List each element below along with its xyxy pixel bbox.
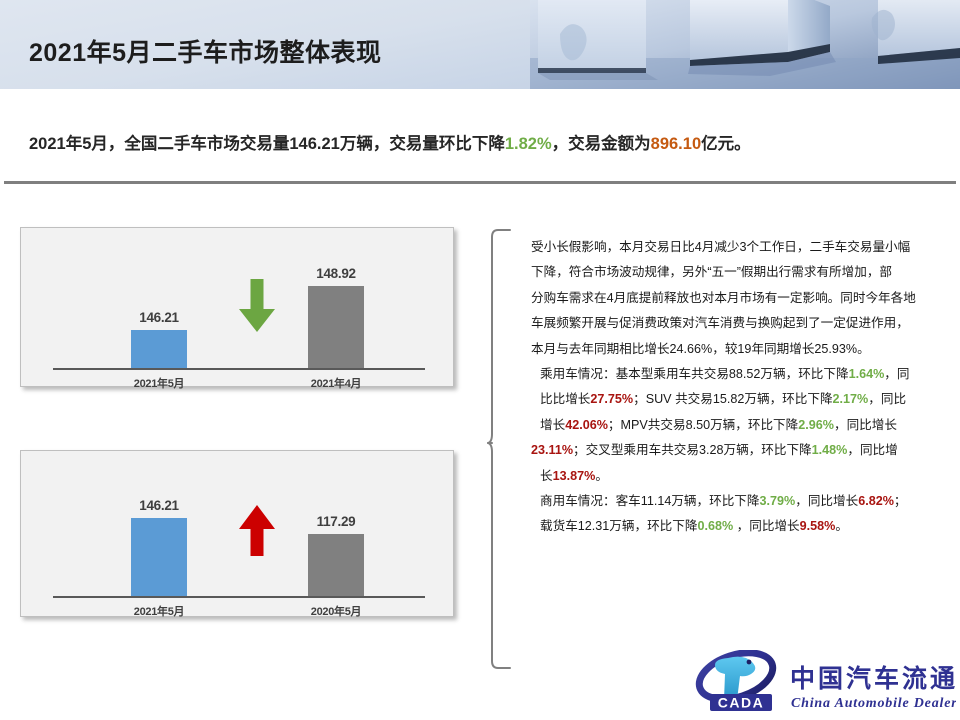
commentary-text: ，同 <box>884 367 909 381</box>
truck-mom-value: 0.68% <box>697 519 733 533</box>
commentary-line-passenger-4: 23.11%；交叉型乘用车共交易3.28万辆，环比下降1.48%，同比增 <box>531 438 951 463</box>
commentary-line-passenger-2: 比比增长27.75%；SUV 共交易15.82万辆，环比下降2.17%，同比 <box>531 387 951 412</box>
crossover-yoy-value: 13.87% <box>553 469 596 483</box>
chart-mom-axis <box>53 368 425 370</box>
chart-mom-category-previous: 2021年4月 <box>286 375 386 391</box>
commentary-line: 分购车需求在4月底提前释放也对本月市场有一定影响。同时今年各地 <box>531 286 951 311</box>
summary-part-1: 2021年5月，全国二手车市场交易量146.21万辆，交易量环比下降 <box>29 135 505 153</box>
suv-mom-value: 2.17% <box>833 392 869 406</box>
commentary-text: 载货车12.31万辆，环比下降 <box>540 519 697 533</box>
chart-mom-value-current: 146.21 <box>109 310 209 325</box>
commentary-text: ；SUV 共交易15.82万辆，环比下降 <box>633 392 832 406</box>
crossover-mom-value: 1.48% <box>812 443 848 457</box>
chart-mom-category-current: 2021年5月 <box>109 375 209 391</box>
commentary-text: ，同比增 <box>847 443 897 457</box>
commentary-panel: 受小长假影响，本月交易日比4月减少3个工作日，二手车交易量小幅 下降，符合市场波… <box>531 235 951 655</box>
bus-mom-value: 3.79% <box>760 494 796 508</box>
cada-chinese-name: 中国汽车流通协会 <box>790 664 956 693</box>
commentary-text: 比比增长 <box>540 392 590 406</box>
chart-yoy-bar-previous <box>308 534 364 596</box>
commentary-text: 受小长假影响，本月交易日比4月减少3个工作日，二手车交易量小幅 <box>531 240 910 254</box>
transaction-amount-value: 896.10 <box>651 135 701 153</box>
header-background-photo <box>530 0 960 89</box>
bus-yoy-value: 6.82% <box>858 494 894 508</box>
chart-yoy-category-previous: 2020年5月 <box>286 603 386 619</box>
summary-line: 2021年5月，全国二手车市场交易量146.21万辆，交易量环比下降1.82%，… <box>29 130 929 154</box>
chart-yoy-bar-current <box>131 518 187 596</box>
up-arrow-icon <box>237 504 277 563</box>
commentary-text: 分购车需求在4月底提前释放也对本月市场有一定影响。同时今年各地 <box>531 291 916 305</box>
commentary-text: 商用车情况：客车11.14万辆，环比下降 <box>540 494 760 508</box>
commentary-text: 长 <box>540 469 553 483</box>
chart-yoy-plot-area: 146.21 2021年5月 117.29 2020年5月 <box>21 451 453 616</box>
commentary-text: ，同比增长 <box>795 494 858 508</box>
mom-decline-value: 1.82% <box>505 135 552 153</box>
chart-mom-value-previous: 148.92 <box>286 266 386 281</box>
header-divider <box>4 181 956 184</box>
suv-yoy-value: 42.06% <box>565 418 608 432</box>
commentary-text: 。 <box>595 469 608 483</box>
commentary-text: ，同比 <box>868 392 906 406</box>
chart-mom-bar-current <box>131 330 187 368</box>
cada-logo: CADA 中国汽车流通协会 China Automobile Dealers A… <box>694 650 956 716</box>
commentary-text: 本月与去年同期相比增长24.66%，较19年同期增长25.93%。 <box>531 342 870 356</box>
slide-root: 2021年5月二手车市场整体表现 2021年5月，全国二手车市场交易量146.2… <box>0 0 960 720</box>
basic-passenger-yoy-value: 27.75% <box>590 392 633 406</box>
mpv-yoy-value: 23.11% <box>531 443 573 457</box>
commentary-text: ；MPV共交易8.50万辆，环比下降 <box>608 418 798 432</box>
mpv-mom-value: 2.96% <box>798 418 834 432</box>
commentary-text: ； <box>894 494 907 508</box>
page-title: 2021年5月二手车市场整体表现 <box>29 33 382 69</box>
commentary-text: ，同比增长 <box>834 418 897 432</box>
commentary-line-commercial-2: 载货车12.31万辆，环比下降0.68% ，同比增长9.58%。 <box>531 514 951 539</box>
chart-yoy-value-current: 146.21 <box>109 498 209 513</box>
commentary-line-passenger-5: 长13.87%。 <box>531 464 951 489</box>
chart-yoy-comparison: 146.21 2021年5月 117.29 2020年5月 <box>20 450 454 617</box>
commentary-text: ，同比增长 <box>733 519 799 533</box>
commentary-text: 车展频繁开展与促消费政策对汽车消费与换购起到了一定促进作用， <box>531 316 909 330</box>
cada-english-name: China Automobile Dealers Association <box>791 696 956 711</box>
commentary-text: 。 <box>835 519 848 533</box>
truck-yoy-value: 9.58% <box>800 519 836 533</box>
chart-yoy-axis <box>53 596 425 598</box>
slide-header: 2021年5月二手车市场整体表现 <box>0 0 960 89</box>
commentary-line: 车展频繁开展与促消费政策对汽车消费与换购起到了一定促进作用， <box>531 311 951 336</box>
commentary-line: 受小长假影响，本月交易日比4月减少3个工作日，二手车交易量小幅 <box>531 235 951 260</box>
callout-brace <box>487 228 511 670</box>
commentary-line-commercial-1: 商用车情况：客车11.14万辆，环比下降3.79%，同比增长6.82%； <box>531 489 951 514</box>
commentary-line: 本月与去年同期相比增长24.66%，较19年同期增长25.93%。 <box>531 337 951 362</box>
cada-abbr-text: CADA <box>718 695 764 711</box>
chart-yoy-value-previous: 117.29 <box>286 514 386 529</box>
summary-part-3: 亿元。 <box>701 135 751 153</box>
commentary-line-passenger-3: 增长42.06%；MPV共交易8.50万辆，环比下降2.96%，同比增长 <box>531 413 951 438</box>
commentary-text: 增长 <box>540 418 565 432</box>
commentary-text: ；交叉型乘用车共交易3.28万辆，环比下降 <box>573 443 812 457</box>
basic-passenger-mom-value: 1.64% <box>849 367 885 381</box>
chart-mom-plot-area: 146.21 2021年5月 148.92 2021年4月 <box>21 228 453 386</box>
summary-part-2: ，交易金额为 <box>552 135 651 153</box>
chart-yoy-category-current: 2021年5月 <box>109 603 209 619</box>
commentary-line: 下降，符合市场波动规律，另外“五一”假期出行需求有所增加，部 <box>531 260 951 285</box>
chart-mom-bar-previous <box>308 286 364 368</box>
commentary-text: 乘用车情况：基本型乘用车共交易88.52万辆，环比下降 <box>540 367 849 381</box>
down-arrow-icon <box>237 278 277 339</box>
commentary-text: 下降，符合市场波动规律，另外“五一”假期出行需求有所增加，部 <box>531 265 892 279</box>
commentary-line-passenger-1: 乘用车情况：基本型乘用车共交易88.52万辆，环比下降1.64%，同 <box>531 362 951 387</box>
chart-mom-comparison: 146.21 2021年5月 148.92 2021年4月 <box>20 227 454 387</box>
